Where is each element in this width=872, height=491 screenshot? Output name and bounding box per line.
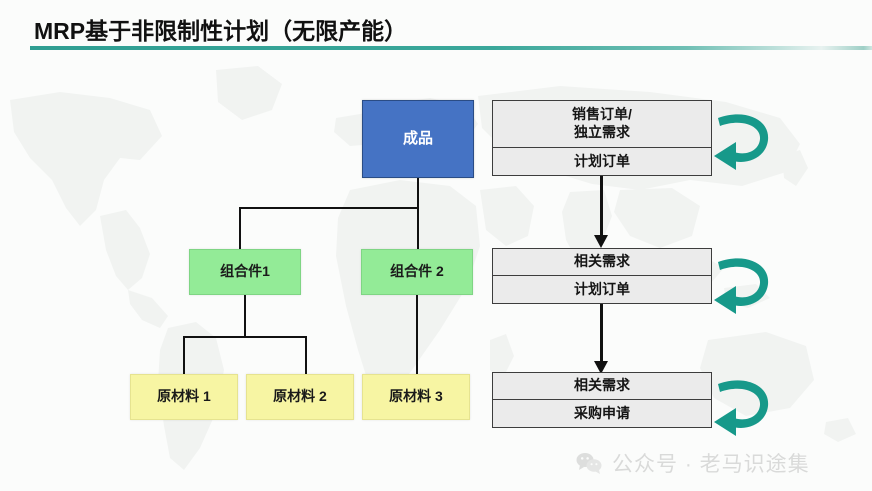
mrp-level-3-demand-cell[interactable]: 相关需求: [492, 372, 712, 400]
mrp-level-1-demand-cell[interactable]: 销售订单/ 独立需求: [492, 100, 712, 148]
connector-assembly-bus: [239, 207, 419, 209]
mrp-level-1-supply-cell[interactable]: 计划订单: [492, 148, 712, 176]
title-divider: [30, 46, 872, 50]
wechat-icon: [576, 452, 602, 474]
mrp-level-3-supply-label: 采购申请: [574, 405, 630, 423]
mrp-level-2-supply-cell[interactable]: 计划订单: [492, 276, 712, 304]
connector-to-material-1: [183, 336, 185, 374]
connector-to-material-2: [305, 336, 307, 374]
connector-finished-down: [417, 178, 419, 208]
slide-canvas: MRP基于非限制性计划（无限产能） 成品 组合件1 组合件 2 原材料 1 原材…: [0, 0, 872, 491]
mrp-level-2-stack: 相关需求 计划订单: [492, 248, 712, 304]
node-finished-goods[interactable]: 成品: [362, 100, 474, 178]
node-material-2[interactable]: 原材料 2: [246, 374, 354, 420]
node-finished-goods-label: 成品: [403, 130, 433, 149]
node-material-2-label: 原材料 2: [273, 388, 327, 406]
circular-arrow-icon-level-3: [712, 370, 774, 442]
page-title: MRP基于非限制性计划（无限产能）: [34, 12, 407, 46]
mrp-level-1-demand-line2: 独立需求: [572, 124, 632, 142]
node-assembly-1-label: 组合件1: [220, 263, 270, 281]
mrp-level-3-supply-cell[interactable]: 采购申请: [492, 400, 712, 428]
node-material-3[interactable]: 原材料 3: [362, 374, 470, 420]
circular-arrow-icon-level-1: [712, 104, 774, 176]
mrp-level-2-demand-cell[interactable]: 相关需求: [492, 248, 712, 276]
mrp-level-3-demand-label: 相关需求: [574, 377, 630, 395]
arrow-level-1-to-2: [594, 176, 608, 248]
mrp-level-3-stack: 相关需求 采购申请: [492, 372, 712, 428]
slide-header: MRP基于非限制性计划（无限产能）: [0, 0, 872, 52]
node-assembly-2-label: 组合件 2: [390, 263, 444, 281]
mrp-level-1-demand-line1: 销售订单/: [572, 106, 632, 124]
arrow-level-2-to-3: [594, 304, 608, 376]
footer-watermark-text: 公众号 · 老马识途集: [612, 448, 810, 478]
mrp-level-2-supply-label: 计划订单: [574, 281, 630, 299]
mrp-level-1-stack: 销售订单/ 独立需求 计划订单: [492, 100, 712, 176]
connector-to-material-3: [416, 295, 418, 374]
connector-material-bus: [183, 336, 307, 338]
node-assembly-2[interactable]: 组合件 2: [361, 249, 473, 295]
circular-arrow-icon-level-2: [712, 248, 774, 320]
connector-to-assembly-1: [239, 207, 241, 249]
node-material-1-label: 原材料 1: [157, 388, 211, 406]
footer-watermark: 公众号 · 老马识途集: [576, 448, 810, 478]
node-assembly-1[interactable]: 组合件1: [189, 249, 301, 295]
node-material-3-label: 原材料 3: [389, 388, 443, 406]
node-material-1[interactable]: 原材料 1: [130, 374, 238, 420]
connector-to-assembly-2: [417, 207, 419, 249]
connector-assembly-1-down: [244, 295, 246, 337]
mrp-level-1-supply-label: 计划订单: [574, 153, 630, 171]
mrp-level-2-demand-label: 相关需求: [574, 253, 630, 271]
